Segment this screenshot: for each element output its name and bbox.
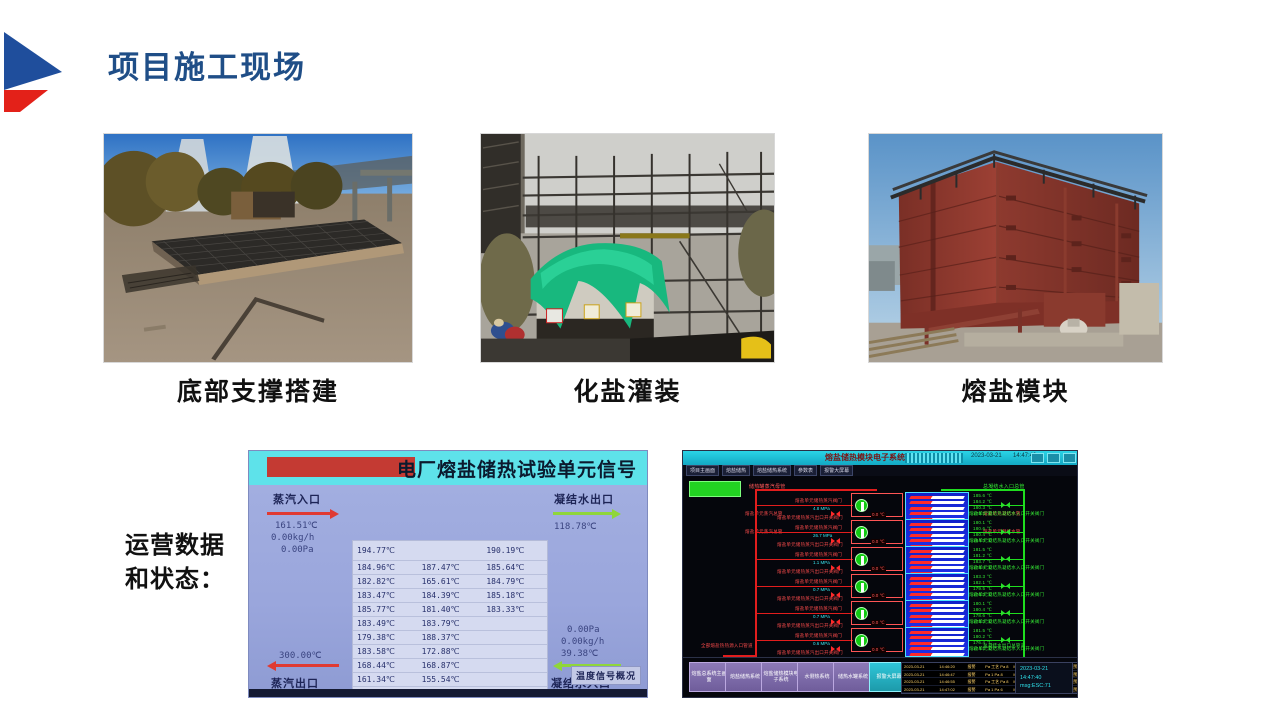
steam-branch-line (755, 640, 853, 641)
alarm-cell: 14:46:47 (937, 671, 965, 678)
condensate-valve-5[interactable] (1001, 637, 1010, 644)
temperature-cell: 190.19℃ (482, 541, 547, 560)
photo-bottom-support (103, 133, 413, 363)
valve-right-half (1006, 556, 1010, 562)
temperature-cell: 185.77℃ (353, 603, 418, 616)
scada-menu-item-2[interactable]: 熔盐储热系统 (753, 465, 791, 476)
temperature-row: 161.34℃155.54℃ (353, 673, 547, 687)
steam-valve-flow-0: 4.8 MPa (813, 506, 830, 511)
clock-msg: msg:ESC:71 (1020, 682, 1072, 691)
condensate-branch-line (969, 532, 1025, 533)
heat-exchanger-coil (909, 512, 965, 515)
scada-clock-box: 2023-03-21 14:47:40 msg:ESC:71 (1015, 662, 1073, 694)
condensate-top-header-line (941, 489, 1025, 491)
steam-inlet-valve-5[interactable] (855, 634, 868, 647)
window-minimize-button[interactable] (1031, 453, 1044, 463)
temperature-cell: 168.87℃ (418, 659, 483, 672)
valve-left-half (1001, 637, 1005, 643)
steam-inlet-valve-4[interactable] (855, 607, 868, 620)
steam-outlet-valve-label-5: 熔盐单元储热蒸汽出口开关阀门 (777, 650, 843, 656)
hmi-body: 蒸汽入口 161.51℃ 0.00kg/h 0.00Pa 凝结水出口 118.7… (249, 485, 647, 697)
steam-valve-temp-2: 0.0 ℃ (871, 566, 886, 572)
condensate-valve-0[interactable] (1001, 502, 1010, 509)
valve-left-half (1001, 556, 1005, 562)
condensate-valve-label-4: 熔盐单元凝结热凝结水入口开关阀门 (969, 619, 1044, 625)
steam-branch-line (755, 559, 853, 560)
heat-exchanger-coil (909, 577, 965, 580)
scada-menu-item-1[interactable]: 熔盐储热 (722, 465, 750, 476)
scada-toolbar-button-2[interactable]: 熔盐储热模块电子系统 (761, 662, 801, 692)
temperature-cell (482, 631, 547, 644)
condensate-valve-label-3: 熔盐单元凝结热凝结水入口开关阀门 (969, 592, 1044, 598)
heat-exchanger-coil (909, 496, 965, 499)
steam-valve-flow-2: 1.1 MPa (813, 560, 830, 565)
page-title: 项目施工现场 (108, 42, 306, 87)
alarm-cell: Pa 工艺 Pa 8 (983, 678, 1011, 685)
heat-exchanger-module-5[interactable] (905, 627, 969, 657)
photo-salt-filling-image (481, 134, 774, 362)
steam-valve-flow-5: 0.6 MPa (813, 641, 830, 646)
steam-branch-line (755, 586, 853, 587)
scada-menu-item-4[interactable]: 报警大屏幕 (820, 465, 853, 476)
alarm-cell: 2023-03-21 (902, 678, 937, 685)
heat-exchanger-coil (909, 636, 965, 639)
heat-exchanger-coil (909, 550, 965, 553)
valve-left-half (1001, 583, 1005, 589)
temperature-row: 179.38℃188.37℃ (353, 631, 547, 645)
caption-salt-filling: 化盐灌装 (480, 372, 775, 408)
condensate-inlet-flow: 0.00kg/h (561, 637, 604, 647)
temperature-row: 182.82℃165.61℃184.79℃ (353, 575, 547, 589)
scada-toolbar-button-4[interactable]: 储热水罐系统 (833, 662, 873, 692)
steam-outlet-valve-label-1: 熔盐单元储热蒸汽出口开关阀门 (777, 542, 843, 548)
ops-data-label: 运营数据 和状态： (100, 528, 250, 596)
temperature-signal-button[interactable]: 温度信号概况 (571, 666, 641, 685)
temperature-cell: 183.47℃ (353, 589, 418, 602)
steam-inlet-flow: 0.00kg/h (271, 533, 314, 543)
steam-valve-label-1: 熔盐单元储热蒸汽阀门 (795, 525, 842, 531)
hmi-title: 电厂熔盐储热试验单元信号 (397, 455, 637, 482)
bottom-left-tag: 全部熔盐热热源入口管道 (701, 643, 753, 649)
temperature-cell: 187.47℃ (418, 561, 483, 574)
condensate-branch-line (969, 613, 1025, 614)
temperature-cell: 161.34℃ (353, 673, 418, 686)
steam-valve-label-2: 熔盐单元储热蒸汽阀门 (795, 552, 842, 558)
steam-outlet-valve-label-3: 熔盐单元储热蒸汽出口开关阀门 (777, 596, 843, 602)
valve-right-half (1006, 637, 1010, 643)
scada-title-date: 2023-03-21 (971, 453, 1002, 459)
scada-panel[interactable]: 熔盐储热模块电子系统 2023-03-21 14:47:40 项目主画面熔盐储热… (682, 450, 1078, 698)
steam-inlet-valve-1[interactable] (855, 526, 868, 539)
temperature-cell: 183.79℃ (418, 617, 483, 630)
alarm-cell: Pa 1 Pa 8 (983, 671, 1011, 678)
heat-exchanger-coil (909, 555, 965, 558)
valve-right-half (1006, 529, 1010, 535)
temperature-cell: 183.49℃ (353, 617, 418, 630)
heat-exchanger-coil (909, 588, 965, 591)
photo-salt-module-image (869, 134, 1162, 362)
steam-top-header-line (755, 489, 877, 491)
valve-left-half (1001, 502, 1005, 508)
temperature-row: 185.77℃181.40℃183.33℃ (353, 603, 547, 617)
steam-inlet-pressure: 0.00Pa (281, 545, 314, 555)
steam-valve-temp-0: 0.0 ℃ (871, 512, 886, 518)
heat-exchanger-module-2[interactable] (905, 546, 969, 576)
temperature-cell (482, 673, 547, 686)
clock-date: 2023-03-21 (1020, 665, 1072, 674)
hmi-signal-panel[interactable]: 电厂熔盐储热试验单元信号 蒸汽入口 161.51℃ 0.00kg/h 0.00P… (248, 450, 648, 698)
steam-inlet-valve-0[interactable] (855, 499, 868, 512)
caption-bottom-support: 底部支撑搭建 (103, 372, 413, 408)
steam-valve-flow-3: 0.7 MPa (813, 587, 830, 592)
hmi-bottom-bar (249, 689, 647, 697)
heat-exchanger-coil (909, 609, 965, 612)
valve-right-half (1006, 502, 1010, 508)
temperature-table: 194.77℃190.19℃184.96℃187.47℃185.64℃182.8… (352, 540, 548, 698)
brand-logo (0, 28, 66, 120)
alarm-cell: 报警 (966, 678, 984, 685)
condensate-branch-line (969, 559, 1025, 560)
heat-exchanger-coil (909, 566, 965, 569)
steam-branch-line (755, 505, 853, 506)
scada-menu-bar[interactable]: 项目主画面熔盐储热熔盐储热系统参数表报警大屏幕 (683, 465, 1077, 476)
alarm-cell: 14:46:20 (937, 663, 965, 670)
alarm-cell: 报警 (966, 686, 984, 693)
temperature-row: 184.96℃187.47℃185.64℃ (353, 561, 547, 575)
condensate-inlet-temp: 39.38℃ (561, 649, 598, 659)
steam-valve-label-3: 熔盐单元储热蒸汽阀门 (795, 579, 842, 585)
alarm-cell: 14:46:55 (937, 678, 965, 685)
temperature-cell: 183.33℃ (482, 603, 547, 616)
steam-valve-temp-5: 0.0 ℃ (871, 647, 886, 653)
condensate-valve-label-0: 熔盐单元凝结热凝结水入口开关阀门 (969, 511, 1044, 517)
temperature-cell: 194.77℃ (353, 541, 418, 560)
alarm-cell: 2023-03-21 (902, 671, 937, 678)
temperature-cell: 184.79℃ (482, 575, 547, 588)
logo-red-triangle (4, 90, 48, 112)
logo-blue-triangle (4, 32, 62, 90)
hmi-title-bar: 电厂熔盐储热试验单元信号 (249, 451, 647, 485)
temperature-cell: 168.44℃ (353, 659, 418, 672)
clock-time: 14:47:40 (1020, 674, 1072, 683)
temperature-row: 183.58℃172.88℃ (353, 645, 547, 659)
condensate-outlet-temp: 118.78℃ (554, 522, 597, 532)
condensate-branch-line (969, 505, 1025, 506)
steam-valve-flow-4: 0.7 MPa (813, 614, 830, 619)
temperature-cell: 165.61℃ (418, 575, 483, 588)
heat-exchanger-coil (909, 561, 965, 564)
heat-exchanger-coil (909, 582, 965, 585)
scada-toolbar-button-0[interactable]: 熔盐总系统主画面 (689, 662, 729, 692)
steam-outlet-arrow (267, 663, 339, 668)
window-close-button[interactable] (1063, 453, 1076, 463)
scada-menu-item-0[interactable]: 项目主画面 (686, 465, 719, 476)
temperature-row: 194.77℃190.19℃ (353, 541, 547, 561)
heat-exchanger-module-3[interactable] (905, 573, 969, 603)
steam-inlet-valve-2[interactable] (855, 553, 868, 566)
steam-valve-temp-1: 0.0 ℃ (871, 539, 886, 545)
heat-exchanger-coil (909, 604, 965, 607)
steam-outlet-valve-label-2: 熔盐单元储热蒸汽出口开关阀门 (777, 569, 843, 575)
valve-right-half (1006, 610, 1010, 616)
steam-valve-temp-3: 0.0 ℃ (871, 593, 886, 599)
ops-label-line2: 和状态： (100, 562, 250, 596)
temperature-cell: 181.40℃ (418, 603, 483, 616)
steam-valve-label-0: 熔盐单元储热蒸汽阀门 (795, 498, 842, 504)
condensate-valve-2[interactable] (1001, 556, 1010, 563)
photo-bottom-support-image (104, 134, 412, 363)
temperature-cell (418, 541, 483, 560)
alarm-cell: Pa 1 Pa 6 (983, 686, 1011, 693)
steam-branch-line (755, 613, 853, 614)
steam-inlet-arrow (267, 511, 339, 516)
photo-salt-module (868, 133, 1163, 363)
heat-exchanger-module-1[interactable] (905, 519, 969, 549)
heat-exchanger-coil (909, 534, 965, 537)
temperature-cell: 183.58℃ (353, 645, 418, 658)
condensate-valve-3[interactable] (1001, 583, 1010, 590)
redaction-box (267, 457, 415, 477)
temperature-row: 168.44℃168.87℃ (353, 659, 547, 673)
steam-inlet-temp: 161.51℃ (275, 521, 318, 531)
temperature-cell (482, 659, 547, 672)
steam-outlet-valve-label-0: 熔盐单元储热蒸汽出口开关阀门 (777, 515, 843, 521)
alarm-cell: 报警 (966, 671, 984, 678)
condensate-outlet-label: 凝结水出口 (554, 491, 614, 507)
condensate-valve-1[interactable] (1001, 529, 1010, 536)
steam-valve-temp-4: 0.0 ℃ (871, 620, 886, 626)
heat-exchanger-coil (909, 620, 965, 623)
steam-branch-line (755, 532, 853, 533)
alarm-cell: 2023-03-21 (902, 686, 937, 693)
valve-left-half (1001, 529, 1005, 535)
heat-exchanger-coil (909, 653, 965, 656)
window-maximize-button[interactable] (1047, 453, 1060, 463)
system-status-lamp (689, 481, 741, 497)
temperature-cell (482, 617, 547, 630)
condensate-branch-line (969, 640, 1025, 641)
condensate-valve-label-2: 熔盐单元凝结热凝结水入口开关阀门 (969, 565, 1044, 571)
ops-label-line1: 运营数据 (100, 528, 250, 562)
condensate-valve-label-1: 熔盐单元凝结热凝结水入口开关阀门 (969, 538, 1044, 544)
steam-valve-label-4: 熔盐单元储热蒸汽阀门 (795, 606, 842, 612)
heat-exchanger-module-0[interactable] (905, 492, 969, 522)
heat-exchanger-coil (909, 507, 965, 510)
scada-toolbar-button-3[interactable]: 水侧热系统 (797, 662, 837, 692)
steam-valve-label-5: 熔盐单元储热蒸汽阀门 (795, 633, 842, 639)
photo-salt-filling (480, 133, 775, 363)
alarm-cell: 报警 (966, 663, 984, 670)
scada-title-hatch (905, 453, 963, 463)
scada-bottom-toolbar[interactable]: 熔盐总系统主画面熔盐储热系统熔盐储热模块电子系统水侧热系统储热水罐系统报警大屏幕… (683, 657, 1077, 697)
scada-title-text: 熔盐储热模块电子系统 (825, 452, 905, 463)
temperature-row: 183.47℃184.39℃185.18℃ (353, 589, 547, 603)
condensate-valve-4[interactable] (1001, 610, 1010, 617)
temperature-cell (482, 645, 547, 658)
temperature-cell: 185.18℃ (482, 589, 547, 602)
temperature-cell: 172.88℃ (418, 645, 483, 658)
heat-exchanger-coil (909, 615, 965, 618)
heat-exchanger-coil (909, 501, 965, 504)
steam-outlet-temp: 300.00℃ (279, 651, 322, 661)
condensate-outlet-arrow (553, 511, 621, 516)
condensate-branch-line (969, 586, 1025, 587)
valve-left-half (1001, 610, 1005, 616)
temperature-row: 183.49℃183.79℃ (353, 617, 547, 631)
valve-right-half (1006, 583, 1010, 589)
heat-exchanger-coil (909, 523, 965, 526)
temperature-cell: 155.54℃ (418, 673, 483, 686)
temperature-cell: 184.39℃ (418, 589, 483, 602)
heat-exchanger-coil (909, 631, 965, 634)
heat-exchanger-coil (909, 539, 965, 542)
alarm-cell: Pa 工艺 Pa 8 (983, 663, 1011, 670)
scada-menu-item-3[interactable]: 参数表 (794, 465, 817, 476)
scada-title-bar: 熔盐储热模块电子系统 2023-03-21 14:47:40 (683, 451, 1077, 465)
heat-exchanger-coil (909, 647, 965, 650)
temperature-cell: 185.64℃ (482, 561, 547, 574)
temperature-cell: 179.38℃ (353, 631, 418, 644)
heat-exchanger-coil (909, 593, 965, 596)
steam-outlet-valve-label-4: 熔盐单元储热蒸汽出口开关阀门 (777, 623, 843, 629)
steam-inlet-valve-3[interactable] (855, 580, 868, 593)
steam-valve-flow-1: 26.7 MPa (813, 533, 832, 538)
steam-inlet-label: 蒸汽入口 (273, 491, 321, 507)
heat-exchanger-coil (909, 642, 965, 645)
scada-toolbar-button-1[interactable]: 熔盐储热系统 (725, 662, 765, 692)
alarm-cell: 2023-03-21 (902, 663, 937, 670)
condensate-valve-label-5: 熔盐单元凝结热凝结水入口开关阀门 (969, 646, 1044, 652)
alarm-cell: 14:47:02 (937, 686, 965, 693)
caption-salt-module: 熔盐模块 (868, 372, 1163, 408)
temperature-cell: 184.96℃ (353, 561, 418, 574)
condensate-inlet-pressure: 0.00Pa (567, 625, 600, 635)
temperature-cell: 182.82℃ (353, 575, 418, 588)
heat-exchanger-module-4[interactable] (905, 600, 969, 630)
temperature-cell: 188.37℃ (418, 631, 483, 644)
steam-main-bus (755, 489, 757, 657)
heat-exchanger-coil (909, 528, 965, 531)
